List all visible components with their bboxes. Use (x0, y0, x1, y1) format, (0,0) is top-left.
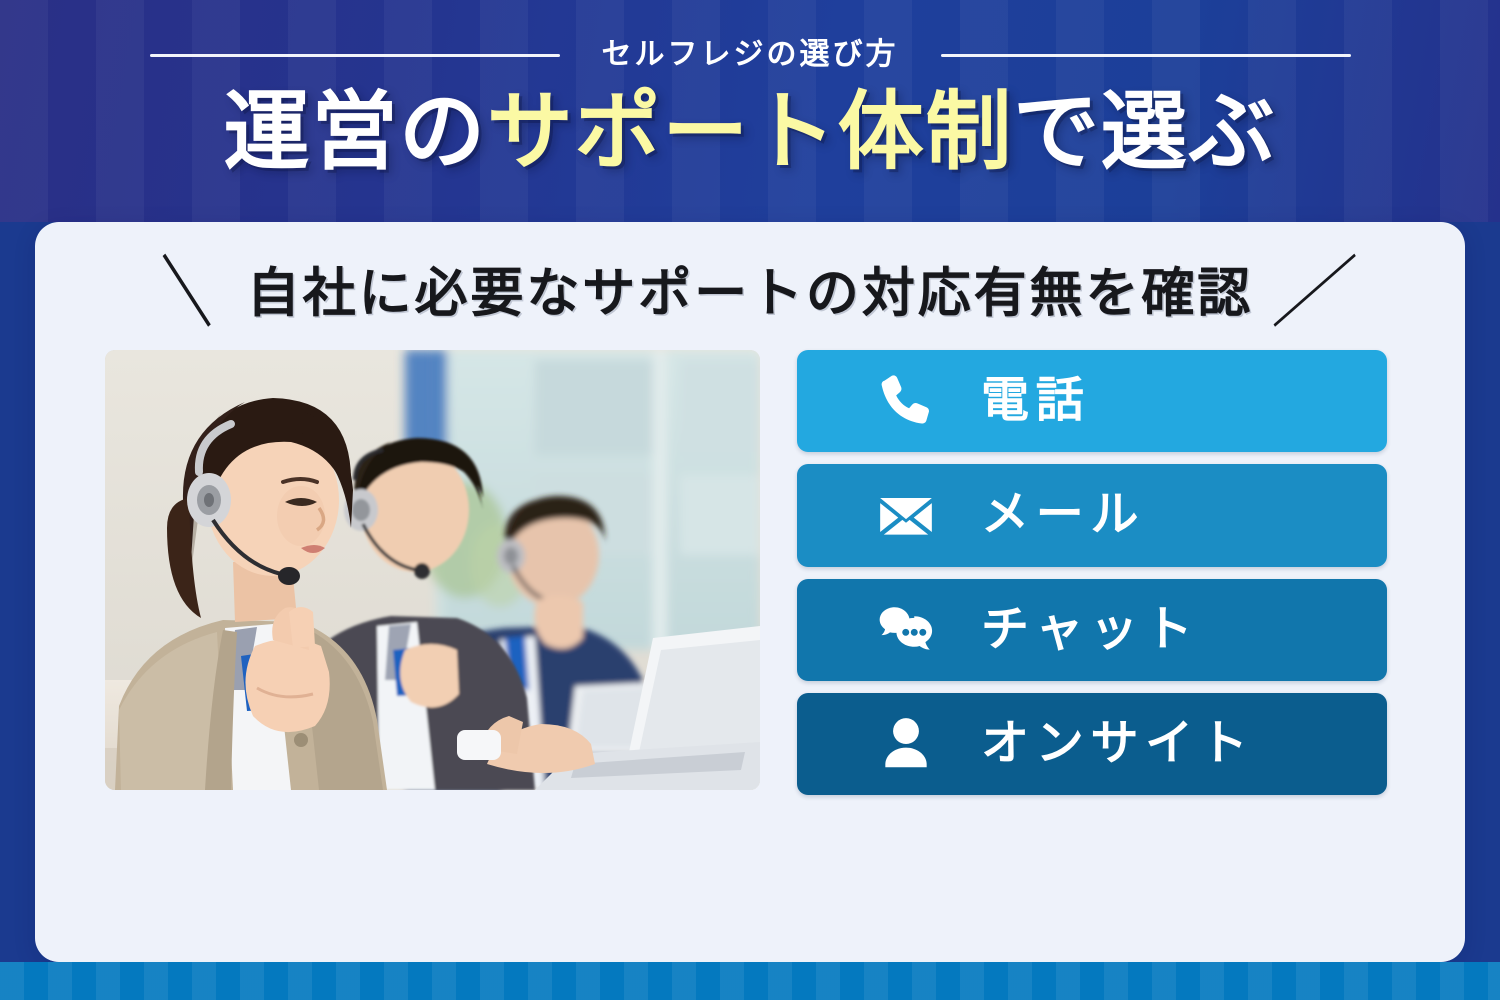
mail-icon (875, 484, 937, 546)
divider-left-line (150, 54, 560, 57)
channel-button-mail[interactable]: メール (797, 464, 1387, 566)
channel-button-onsite[interactable]: オンサイト (797, 693, 1387, 795)
banner-title-part-2: で選ぶ (1013, 84, 1276, 180)
call-center-photo (105, 350, 760, 790)
card-heading-label: 自社に必要なサポートの対応有無を確認 (247, 267, 1253, 320)
channel-label-phone: 電話 (981, 377, 1090, 425)
channel-label-mail: メール (981, 491, 1145, 539)
channel-button-chat[interactable]: チャット (797, 579, 1387, 681)
banner-title: 運営のサポート体制で選ぶ (0, 84, 1500, 180)
card-heading: ＼ 自社に必要なサポートの対応有無を確認 ／ (35, 252, 1465, 334)
banner-title-highlight: サポート体制 (487, 84, 1013, 180)
support-channel-list: 電話 メール チャット (797, 350, 1387, 795)
eyebrow-row: セルフレジの選び方 (0, 30, 1500, 80)
content-card: ＼ 自社に必要なサポートの対応有無を確認 ／ (35, 222, 1465, 962)
chat-icon (875, 599, 937, 661)
channel-label-chat: チャット (981, 606, 1199, 654)
eyebrow-label: セルフレジの選び方 (560, 40, 941, 70)
infographic-root: セルフレジの選び方 運営のサポート体制で選ぶ ＼ 自社に必要なサポートの対応有無… (0, 0, 1500, 1000)
divider-right-line (941, 54, 1351, 57)
channel-label-onsite: オンサイト (981, 720, 1255, 768)
person-icon (875, 713, 937, 775)
channel-button-phone[interactable]: 電話 (797, 350, 1387, 452)
bottom-strip (0, 962, 1500, 1000)
call-center-photo-illustration (105, 350, 760, 790)
slash-right-decoration: ／ (1269, 254, 1359, 332)
phone-icon (875, 370, 937, 432)
slash-left-decoration: ＼ (141, 254, 231, 332)
top-banner: セルフレジの選び方 運営のサポート体制で選ぶ (0, 0, 1500, 222)
banner-title-part-1: 運営の (224, 84, 487, 180)
